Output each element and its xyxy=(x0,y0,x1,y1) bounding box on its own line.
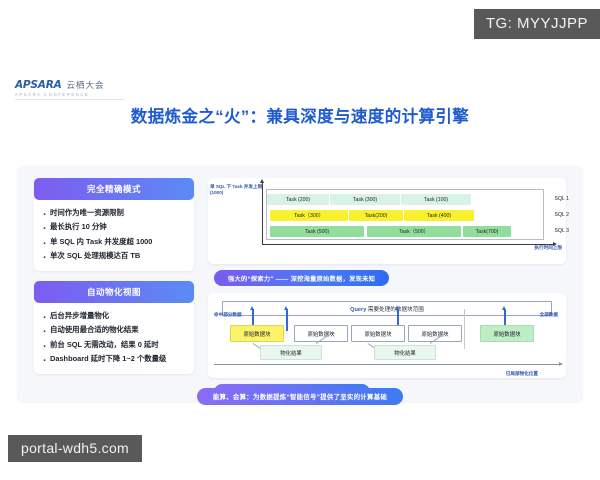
chart-x-axis xyxy=(262,244,554,245)
task-bar: Task（300） xyxy=(270,210,348,221)
slide-canvas: APSARA 云栖大会 APSARA CONFERENCE 数据炼金之“火”：兼… xyxy=(0,58,600,410)
list-item: Dashboard 延时下降 1~2 个数量级 xyxy=(42,352,188,366)
chart-row-sql2: Task（300） Task(200) Task (400) SQL 2 xyxy=(267,210,543,221)
arrow-up-icon xyxy=(252,309,254,325)
query-label: Query xyxy=(350,307,366,313)
arrow-up-icon xyxy=(504,309,506,325)
logo-subtitle: APSARA CONFERENCE xyxy=(15,92,125,97)
chart-row-sql1: Task (200) Task (300) Task (100) SQL 1 xyxy=(267,194,543,205)
task-bar: Task（500） xyxy=(367,226,461,237)
chart-row-label: SQL 2 xyxy=(554,212,569,218)
logo-top-row: APSARA 云栖大会 xyxy=(15,79,125,91)
materialized-result: 物化结果 xyxy=(260,345,322,360)
data-block: 原始数据块 xyxy=(230,325,284,342)
telegram-watermark: TG: MYYJJPP xyxy=(474,9,600,39)
chart-banner-wrap: 强大的“探索力” —— 深挖海量原始数据，发现未知 xyxy=(208,264,566,286)
task-concurrency-chart: 单 SQL 下 Task 并发上限(1000) 执行时间上限 Task (200… xyxy=(208,178,566,264)
task-bar: Task (400) xyxy=(404,210,474,221)
panel-exact-mode-list: 时间作为唯一资源限制 最长执行 10 分钟 单 SQL 内 Task 并发度超 … xyxy=(34,206,194,264)
logo-divider xyxy=(15,99,125,100)
left-column: 完全精确模式 时间作为唯一资源限制 最长执行 10 分钟 单 SQL 内 Tas… xyxy=(34,178,194,384)
task-bar: Task (500) xyxy=(270,226,364,237)
chart-plot-area: Task (200) Task (300) Task (100) SQL 1 T… xyxy=(266,189,544,240)
task-bar: Task (200) xyxy=(267,194,329,205)
chart-row-label: SQL 3 xyxy=(554,228,569,234)
label-all-data: 全部数据 xyxy=(540,312,558,318)
panel-materialized-view: 自动物化视图 后台异步增量物化 自动使用最合适的物化结果 前台 SQL 无需改动… xyxy=(34,281,194,374)
data-block: 原始数据块 xyxy=(480,325,534,342)
arrow-up-icon xyxy=(286,309,288,331)
task-bar: Task(700) xyxy=(463,226,511,237)
task-bar: Task (300) xyxy=(330,194,400,205)
page-title: 数据炼金之“火”：兼具深度与速度的计算引擎 xyxy=(0,103,600,127)
materialization-diagram: Query 需要处理的数据块范围 命中部分数据 全部数据 已局部物化位置 原始数… xyxy=(208,293,566,378)
data-block: 原始数据块 xyxy=(351,325,405,342)
list-item: 时间作为唯一资源限制 xyxy=(42,206,188,220)
chart-y-axis-label: 单 SQL 下 Task 并发上限(1000) xyxy=(210,184,264,196)
content-card: 完全精确模式 时间作为唯一资源限制 最长执行 10 分钟 单 SQL 内 Tas… xyxy=(18,166,582,401)
panel-materialized-view-list: 后台异步增量物化 自动使用最合适的物化结果 前台 SQL 无需改动，结果 0 延… xyxy=(34,309,194,367)
diagram-baseline xyxy=(214,364,560,365)
panel-materialized-view-header: 自动物化视图 xyxy=(34,281,194,303)
label-partial-hit: 命中部分数据 xyxy=(214,312,242,318)
chart-y-axis xyxy=(262,182,263,244)
diagram-divider xyxy=(464,309,465,349)
panel-exact-mode: 完全精确模式 时间作为唯一资源限制 最长执行 10 分钟 单 SQL 内 Tas… xyxy=(34,178,194,271)
exploration-banner: 强大的“探索力” —— 深挖海量原始数据，发现未知 xyxy=(214,270,389,286)
footer-banner: 能算、会算：为数据提炼“智能信号”提供了坚实的计算基础 xyxy=(197,388,403,405)
chart-x-axis-label: 执行时间上限 xyxy=(534,245,562,251)
chart-row-sql3: Task (500) Task（500） Task(700) SQL 3 xyxy=(267,226,543,237)
list-item: 单 SQL 内 Task 并发度超 1000 xyxy=(42,235,188,249)
right-column: 单 SQL 下 Task 并发上限(1000) 执行时间上限 Task (200… xyxy=(208,178,566,400)
chart-row-label: SQL 1 xyxy=(554,196,569,202)
apsara-logo: APSARA 云栖大会 APSARA CONFERENCE xyxy=(15,79,125,100)
list-item: 后台异步增量物化 xyxy=(42,309,188,323)
footer-banner-wrap: 能算、会算：为数据提炼“智能信号”提供了坚实的计算基础 xyxy=(0,382,600,405)
list-item: 自动使用最合适的物化结果 xyxy=(42,323,188,337)
logo-brand-text: APSARA xyxy=(15,79,62,91)
label-materialized-position: 已局部物化位置 xyxy=(506,371,538,377)
logo-brand-cn-text: 云栖大会 xyxy=(67,79,105,91)
task-bar: Task(200) xyxy=(349,210,403,221)
panel-exact-mode-header: 完全精确模式 xyxy=(34,178,194,200)
list-item: 前台 SQL 无需改动，结果 0 延时 xyxy=(42,338,188,352)
list-item: 最长执行 10 分钟 xyxy=(42,220,188,234)
list-item: 单次 SQL 处理规模达百 TB xyxy=(42,249,188,263)
materialized-result: 物化结果 xyxy=(374,345,436,360)
task-bar: Task (100) xyxy=(401,194,471,205)
portal-watermark: portal-wdh5.com xyxy=(8,435,142,462)
